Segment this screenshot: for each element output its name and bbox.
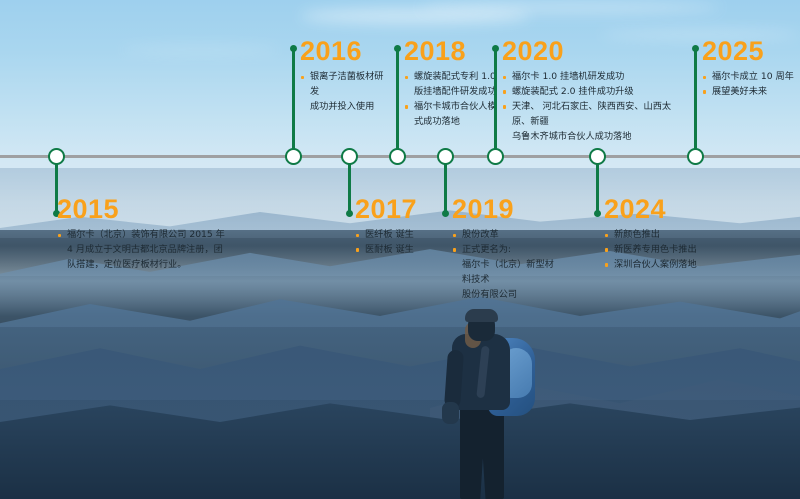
milestone-bullets: 银离子洁菌板材研发 成功并投入使用	[300, 70, 392, 115]
milestone-year: 2020	[502, 38, 687, 65]
bullet-item: 银离子洁菌板材研发 成功并投入使用	[300, 70, 392, 115]
bullet-item: 股份改革	[452, 228, 557, 243]
bullet-item: 福尔卡（北京）装饰有限公司 2015 年 4 月成立于文明古都北京品牌注册，团 …	[57, 228, 247, 273]
milestone-bullets: 福尔卡（北京）装饰有限公司 2015 年 4 月成立于文明古都北京品牌注册，团 …	[57, 228, 247, 273]
bullet-item: 新医养专用色卡推出	[604, 243, 724, 258]
timeline-stem-2024	[596, 157, 599, 213]
milestone-2018: 2018 螺旋装配式专利 1.0 版挂墙配件研发成功 福尔卡城市合伙人模 式成功…	[404, 38, 499, 130]
timeline-stem-2016	[292, 48, 295, 152]
timeline-node-2025[interactable]	[687, 148, 704, 165]
timeline-stem-2017	[348, 157, 351, 213]
milestone-bullets: 福尔卡成立 10 周年 展望美好未来	[702, 70, 797, 100]
milestone-2019: 2019 股份改革 正式更名为: 福尔卡（北京）新型材料技术 股份有限公司	[452, 196, 557, 303]
hiker-cap	[465, 309, 498, 322]
milestone-year: 2019	[452, 196, 557, 223]
timeline-node-2019[interactable]	[437, 148, 454, 165]
timeline-stem-dot-2020	[492, 45, 499, 52]
milestone-2025: 2025 福尔卡成立 10 周年 展望美好未来	[702, 38, 797, 100]
timeline-node-2024[interactable]	[589, 148, 606, 165]
milestone-year: 2016	[300, 38, 392, 65]
milestone-2024: 2024 新颜色推出 新医养专用色卡推出 深圳合伙人案例落地	[604, 196, 724, 273]
timeline-node-2020[interactable]	[487, 148, 504, 165]
milestone-year: 2025	[702, 38, 797, 65]
timeline-stem-2020	[494, 48, 497, 152]
milestone-2020: 2020 福尔卡 1.0 挂墙机研发成功 螺旋装配式 2.0 挂件成功升级 天津…	[502, 38, 687, 145]
hiker-hand	[442, 402, 459, 424]
bullet-item: 螺旋装配式 2.0 挂件成功升级	[502, 85, 687, 100]
timeline-stem-dot-2018	[394, 45, 401, 52]
milestone-bullets: 螺旋装配式专利 1.0 版挂墙配件研发成功 福尔卡城市合伙人模 式成功落地	[404, 70, 499, 130]
timeline-node-2016[interactable]	[285, 148, 302, 165]
timeline-node-2017[interactable]	[341, 148, 358, 165]
timeline-stem-dot-2017	[346, 210, 353, 217]
timeline-stem-2018	[396, 48, 399, 152]
hiker-figure	[432, 306, 557, 499]
timeline-stem-2025	[694, 48, 697, 152]
milestone-2015: 2015 福尔卡（北京）装饰有限公司 2015 年 4 月成立于文明古都北京品牌…	[57, 196, 247, 273]
bullet-item: 福尔卡城市合伙人模 式成功落地	[404, 100, 499, 130]
milestone-2017: 2017 医纤板 诞生 医耐板 诞生	[355, 196, 455, 258]
timeline-stem-2019	[444, 157, 447, 213]
milestone-year: 2018	[404, 38, 499, 65]
bullet-item: 医纤板 诞生	[355, 228, 455, 243]
timeline-stem-dot-2019	[442, 210, 449, 217]
bullet-item: 展望美好未来	[702, 85, 797, 100]
bullet-item: 深圳合伙人案例落地	[604, 258, 724, 273]
timeline-node-2018[interactable]	[389, 148, 406, 165]
timeline-stem-dot-2024	[594, 210, 601, 217]
timeline-infographic: 2015 福尔卡（北京）装饰有限公司 2015 年 4 月成立于文明古都北京品牌…	[0, 0, 800, 499]
cloud	[420, 2, 720, 13]
milestone-year: 2017	[355, 196, 455, 223]
bullet-item: 螺旋装配式专利 1.0 版挂墙配件研发成功	[404, 70, 499, 100]
milestone-year: 2024	[604, 196, 724, 223]
cloud	[120, 46, 280, 54]
hiker-legs	[460, 402, 504, 499]
bullet-item: 正式更名为: 福尔卡（北京）新型材料技术 股份有限公司	[452, 243, 557, 303]
bullet-item: 天津、 河北石家庄、陕西西安、山西太原、新疆 乌鲁木齐城市合伙人成功落地	[502, 100, 687, 145]
bullet-item: 福尔卡 1.0 挂墙机研发成功	[502, 70, 687, 85]
milestone-bullets: 医纤板 诞生 医耐板 诞生	[355, 228, 455, 258]
bullet-item: 福尔卡成立 10 周年	[702, 70, 797, 85]
timeline-node-2015[interactable]	[48, 148, 65, 165]
timeline-stem-dot-2025	[692, 45, 699, 52]
milestone-year: 2015	[57, 196, 247, 223]
milestone-2016: 2016 银离子洁菌板材研发 成功并投入使用	[300, 38, 392, 115]
timeline-stem-dot-2016	[290, 45, 297, 52]
bullet-item: 新颜色推出	[604, 228, 724, 243]
bullet-item: 医耐板 诞生	[355, 243, 455, 258]
milestone-bullets: 新颜色推出 新医养专用色卡推出 深圳合伙人案例落地	[604, 228, 724, 273]
milestone-bullets: 股份改革 正式更名为: 福尔卡（北京）新型材料技术 股份有限公司	[452, 228, 557, 303]
milestone-bullets: 福尔卡 1.0 挂墙机研发成功 螺旋装配式 2.0 挂件成功升级 天津、 河北石…	[502, 70, 687, 145]
